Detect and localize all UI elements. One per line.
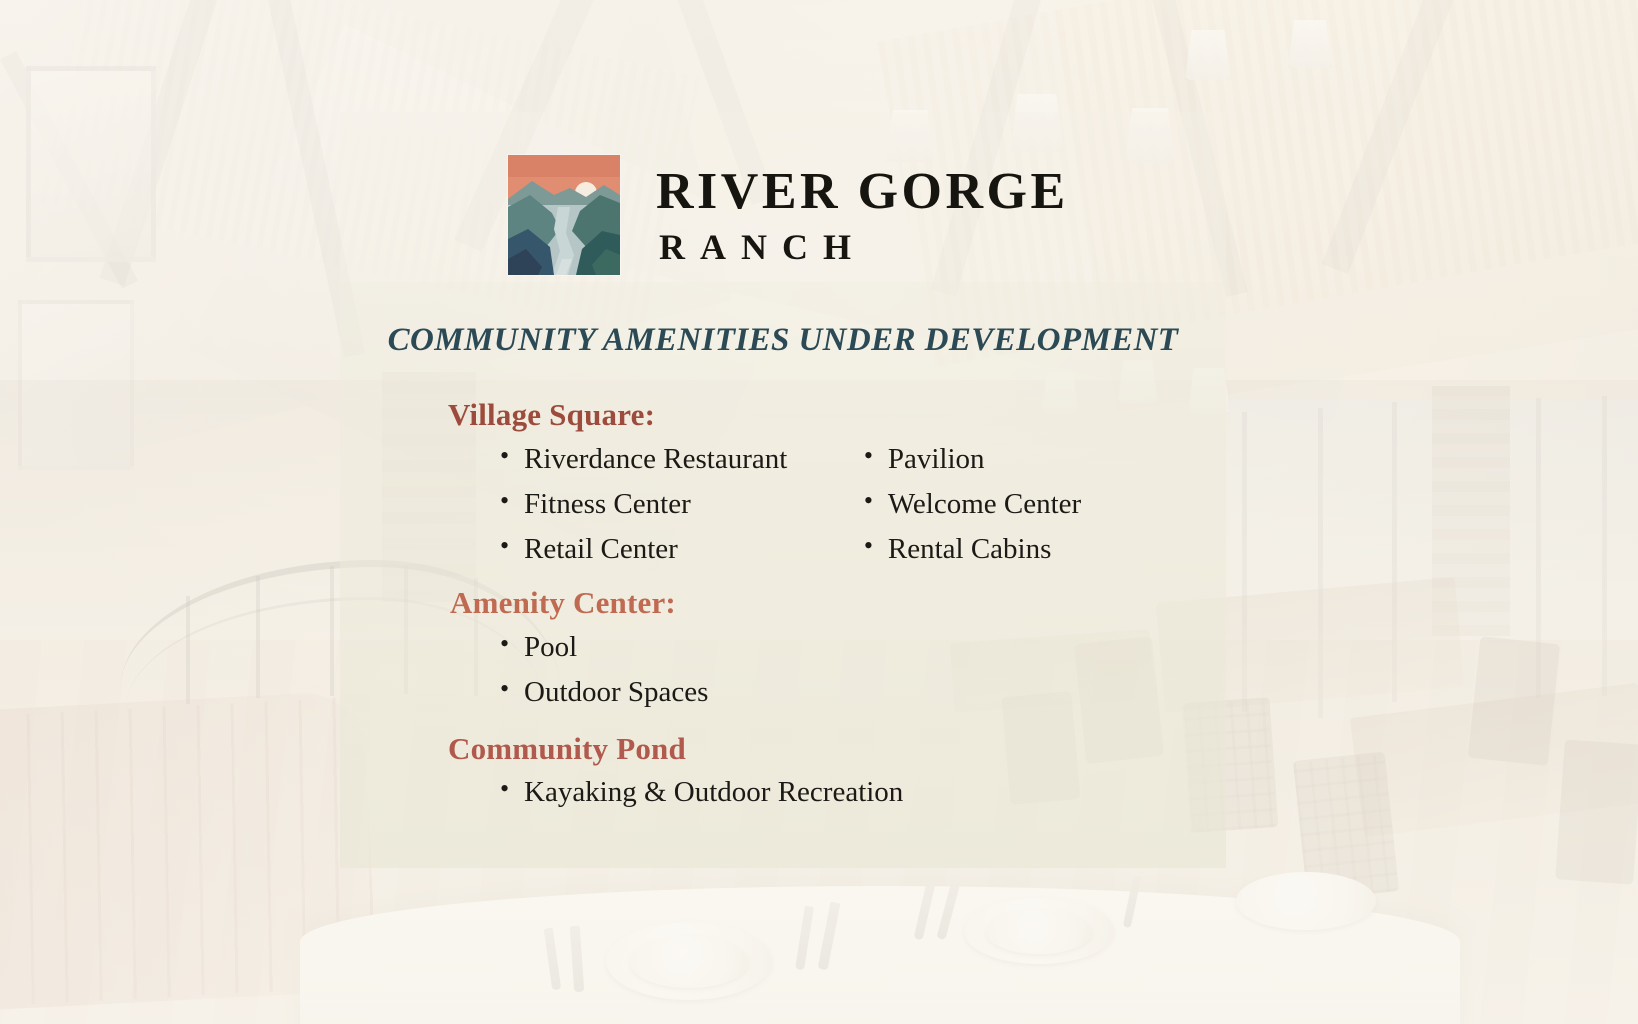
list-item: Riverdance Restaurant xyxy=(496,437,824,482)
presentation-slide: RIVER GORGE RANCH COMMUNITY AMENITIES UN… xyxy=(0,0,1638,1024)
list-item: Outdoor Spaces xyxy=(496,670,1148,715)
river-gorge-landscape-logo-icon xyxy=(508,155,620,275)
brand-name-line1: RIVER GORGE xyxy=(656,165,1069,218)
slide-title: COMMUNITY AMENITIES UNDER DEVELOPMENT xyxy=(340,322,1226,359)
list-item: Welcome Center xyxy=(860,482,1148,527)
village-square-columns: Riverdance Restaurant Fitness Center Ret… xyxy=(496,437,1148,573)
list-item: Pool xyxy=(496,625,1148,670)
brand-name-line2: RANCH xyxy=(659,229,1069,265)
list-item: Fitness Center xyxy=(496,482,824,527)
list-item: Pavilion xyxy=(860,437,1148,482)
list-item: Kayaking & Outdoor Recreation xyxy=(496,770,1148,815)
section-heading-village-square: Village Square: xyxy=(448,398,1148,433)
list-item: Rental Cabins xyxy=(860,527,1148,572)
section-heading-community-pond: Community Pond xyxy=(448,732,1148,767)
slide-content: RIVER GORGE RANCH COMMUNITY AMENITIES UN… xyxy=(0,0,1638,1024)
brand-wordmark: RIVER GORGE RANCH xyxy=(656,165,1069,264)
section-heading-amenity-center: Amenity Center: xyxy=(450,586,1148,621)
village-square-left-column: Riverdance Restaurant Fitness Center Ret… xyxy=(496,437,824,573)
community-pond-items: Kayaking & Outdoor Recreation xyxy=(496,770,1148,815)
list-item: Retail Center xyxy=(496,527,824,572)
amenity-center-items: Pool Outdoor Spaces xyxy=(496,625,1148,715)
brand-logo-lockup[interactable]: RIVER GORGE RANCH xyxy=(508,155,1069,275)
village-square-right-column: Pavilion Welcome Center Rental Cabins xyxy=(860,437,1148,573)
amenities-list: Village Square: Riverdance Restaurant Fi… xyxy=(448,398,1148,816)
